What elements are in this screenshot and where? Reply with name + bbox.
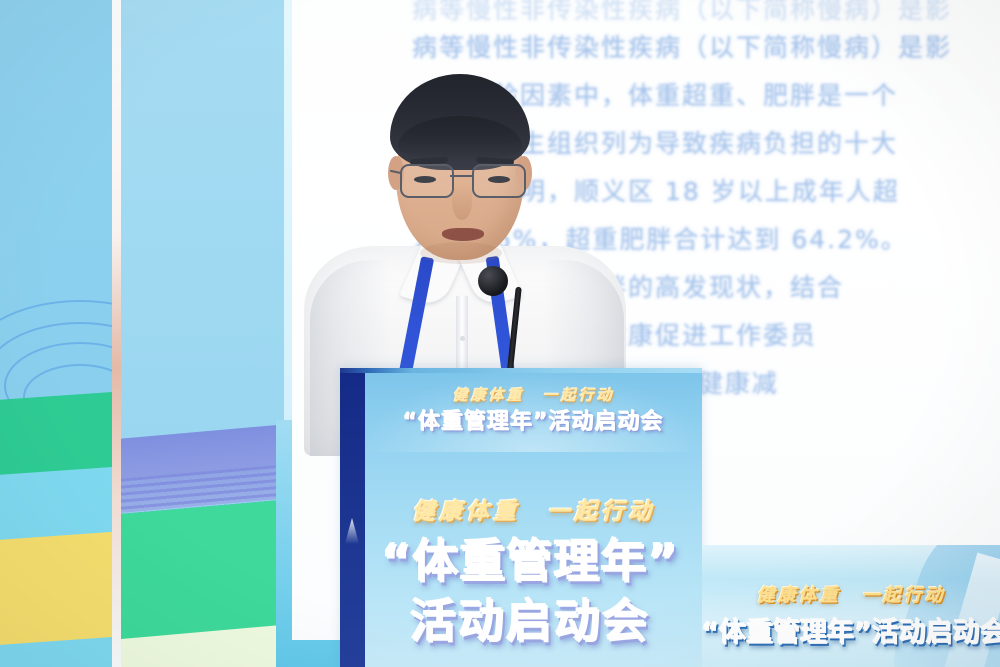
- bottom-right-banner: 健康体重 一起行动 “体重管理年”活动启动会: [702, 545, 1000, 667]
- speaker-figure: [300, 60, 630, 390]
- glasses-lens-left: [400, 164, 454, 198]
- backdrop-band-yellow: [0, 529, 112, 656]
- podium-header-title: “体重管理年”活动启动会: [365, 404, 702, 436]
- glasses-lens-right: [472, 164, 526, 198]
- speaker-hair: [390, 74, 530, 170]
- speaker-mouth: [442, 228, 484, 241]
- podium-header-subtitle: 健康体重 一起行动: [365, 384, 702, 405]
- banner-subtitle: 健康体重 一起行动: [702, 581, 1000, 607]
- podium-main-subtitle: 健康体重 一起行动: [365, 492, 702, 526]
- podium-main-title-line2: 活动启动会: [356, 586, 706, 652]
- backdrop-panel-mid: [121, 0, 284, 667]
- podium-main-title-line1: “体重管理年”: [356, 526, 706, 592]
- microphone-icon: [478, 266, 508, 296]
- screenshot-stage: 病等慢性非传染性疾病（以下简称慢病）是影 病等慢性非传染性疾病（以下简称慢病）是…: [0, 0, 1000, 667]
- shirt-button: [460, 336, 465, 341]
- speaker-chin-shadow: [420, 242, 502, 264]
- glasses-bridge: [450, 175, 472, 177]
- backdrop-seam-left: [112, 0, 121, 667]
- podium-top-edge: [340, 368, 702, 373]
- speaker-nose: [452, 184, 472, 220]
- backdrop-panel-left: [0, 0, 112, 667]
- banner-title: “体重管理年”活动启动会: [702, 611, 1000, 650]
